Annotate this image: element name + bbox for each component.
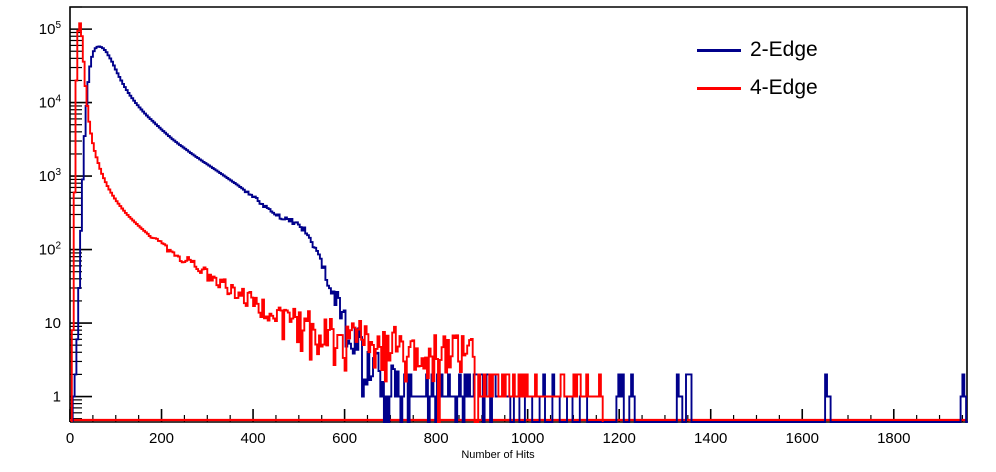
legend-swatch-4-edge [697, 87, 741, 90]
x-tick-label: 1400 [694, 430, 727, 447]
legend-label-4-edge: 4-Edge [750, 76, 818, 100]
chart-canvas: 110102103104105 020040060080010001200140… [0, 0, 996, 472]
x-tick-label: 1200 [602, 430, 635, 447]
x-tick-label: 800 [424, 430, 449, 447]
x-tick-label: 1600 [786, 430, 819, 447]
y-tick-label: 1 [53, 389, 61, 406]
x-axis-title: Number of Hits [0, 449, 996, 461]
legend-item-2-edge[interactable]: 2-Edge [697, 34, 927, 66]
x-tick-label: 400 [241, 430, 266, 447]
legend-label-2-edge: 2-Edge [750, 38, 818, 62]
legend-item-4-edge[interactable]: 4-Edge [697, 72, 927, 104]
x-tick-label: 200 [149, 430, 174, 447]
legend: 2-Edge 4-Edge [697, 34, 927, 104]
legend-swatch-2-edge [697, 49, 741, 52]
y-tick-label: 10 [44, 315, 61, 332]
x-tick-label: 0 [66, 430, 74, 447]
x-tick-label: 600 [332, 430, 357, 447]
x-tick-label: 1000 [511, 430, 544, 447]
x-tick-label: 1800 [877, 430, 910, 447]
